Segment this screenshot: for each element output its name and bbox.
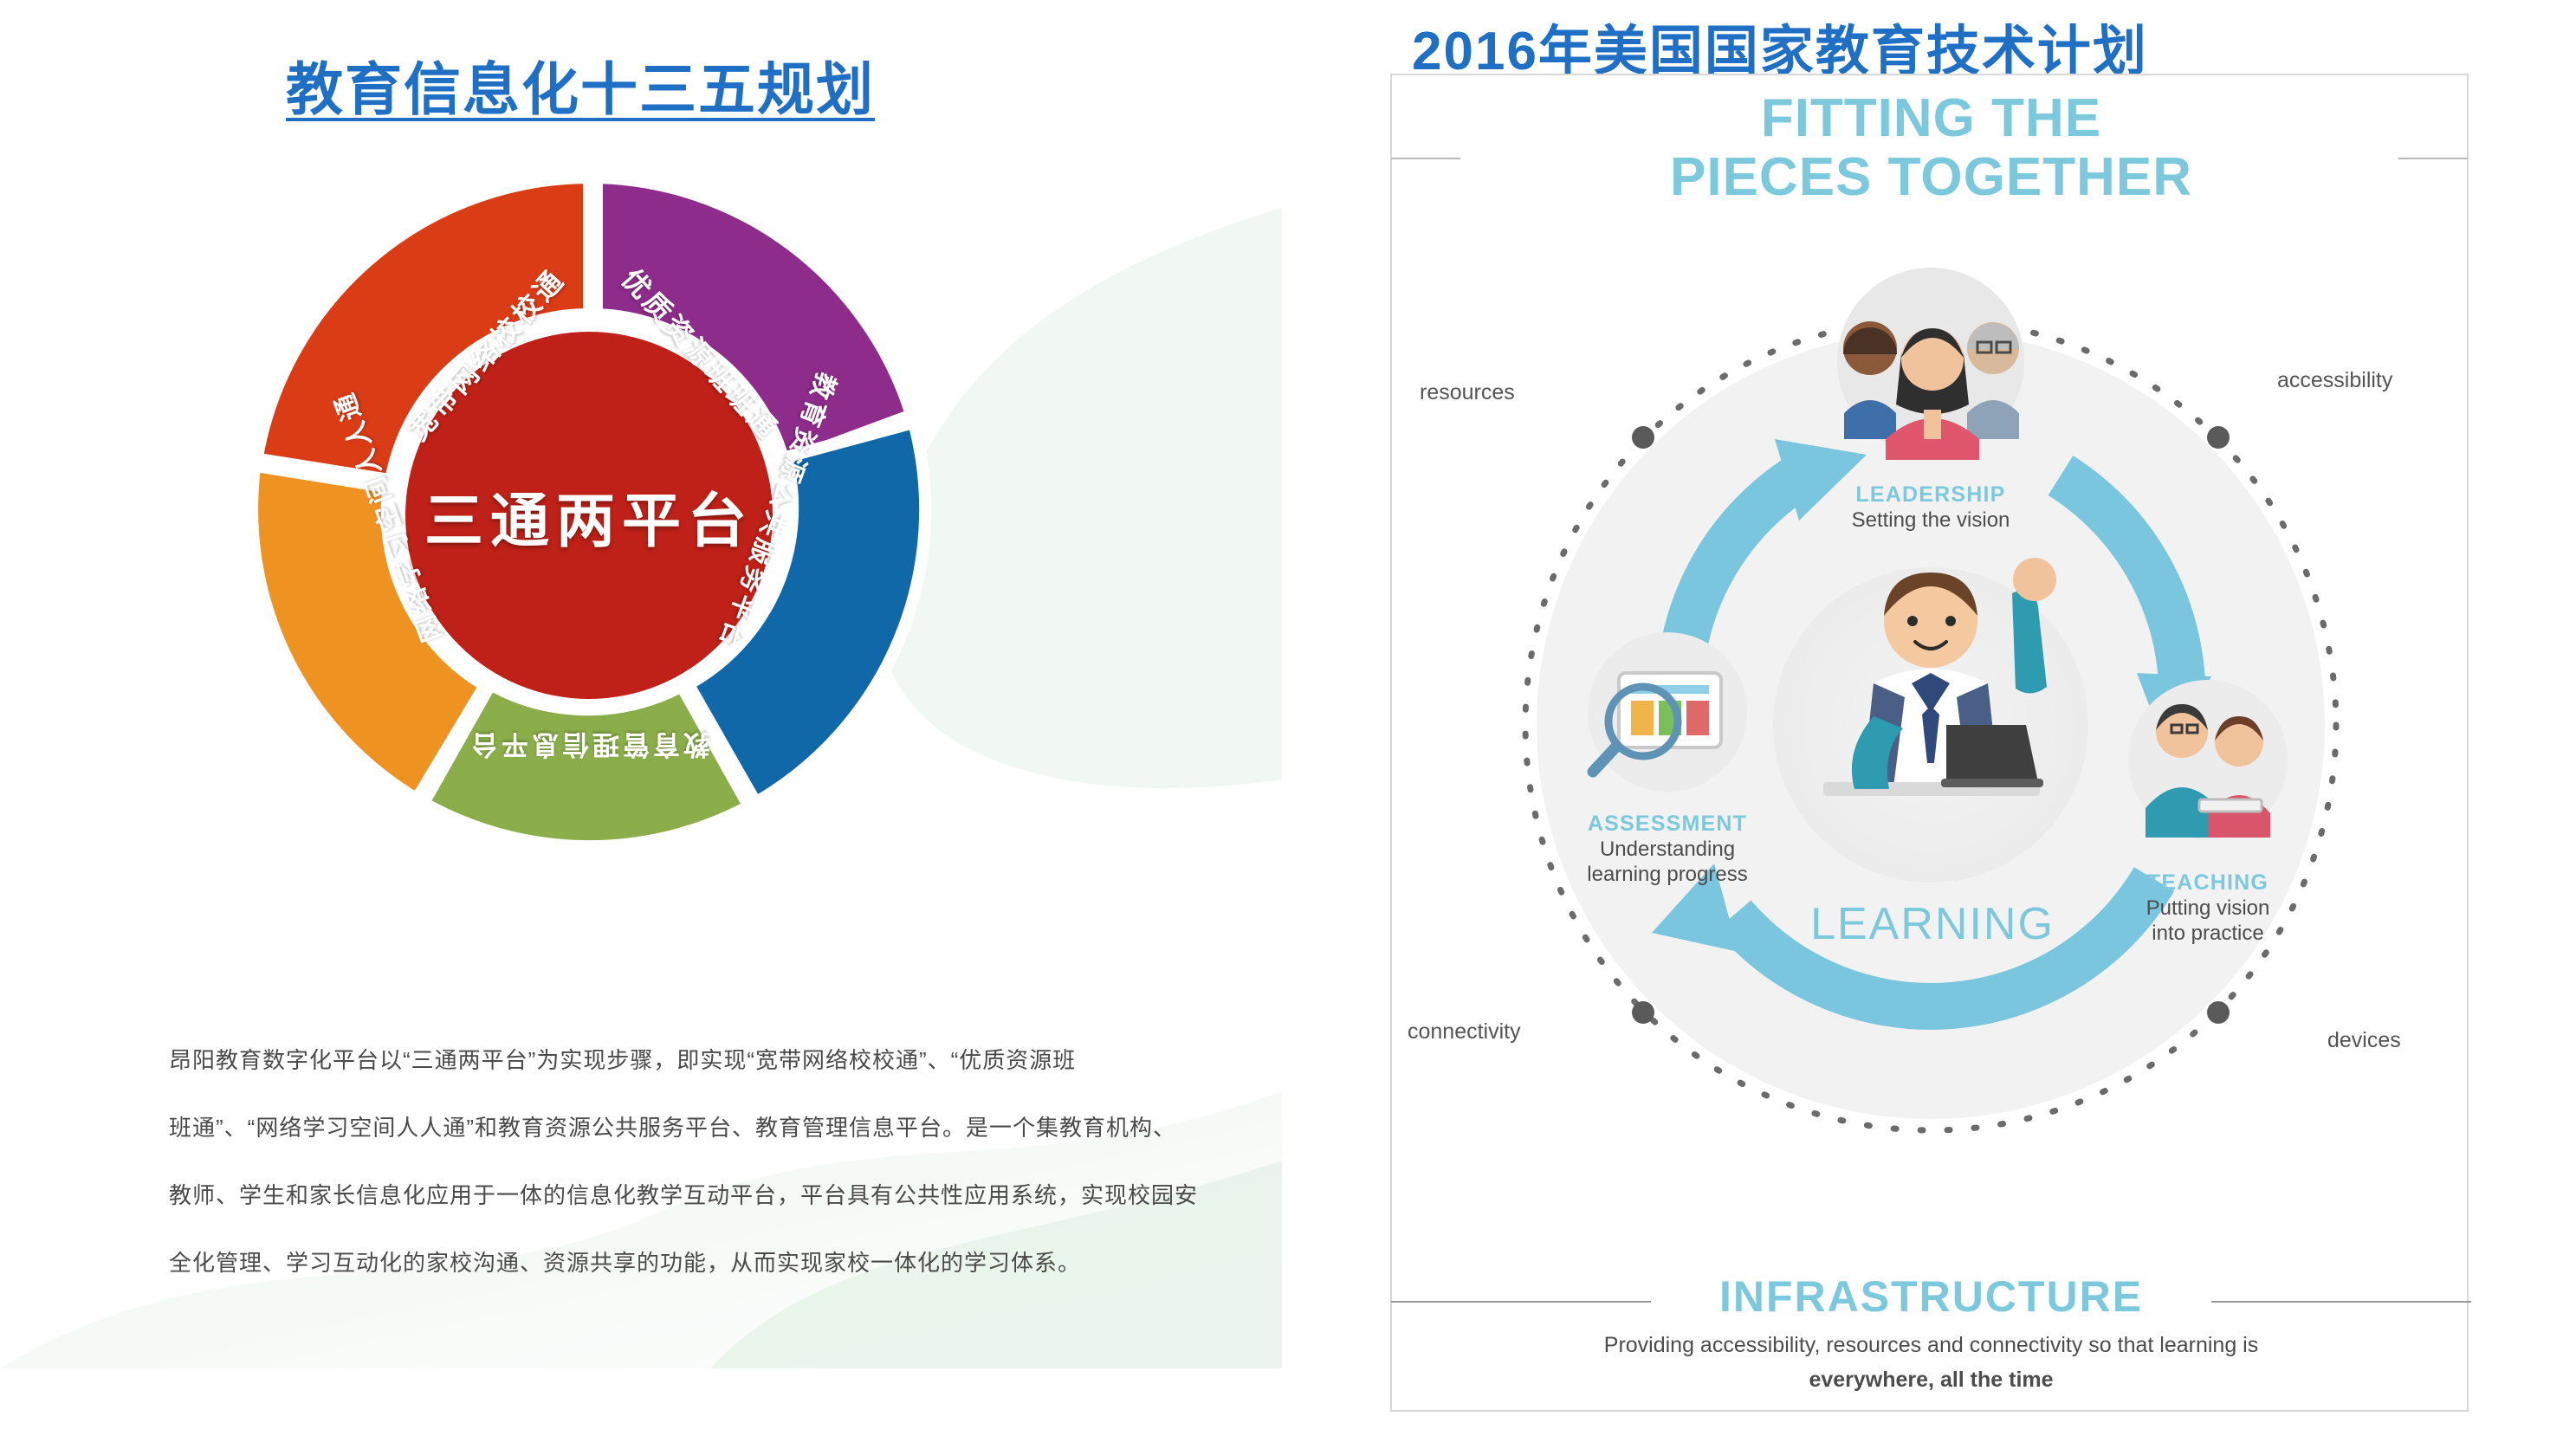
slide-root: 教育信息化十三五规划 宽带网络校校通 — [0, 0, 2576, 1449]
right-panel: 2016年美国国家教育技术计划 FITTING THE PIECES TOGET… — [1282, 0, 2576, 1449]
assessment-title: ASSESSMENT — [1511, 812, 1823, 837]
assessment-subtitle-line2: learning progress — [1511, 862, 1823, 887]
donut-chart: 宽带网络校校通 优质资源班班通 教育资源公共服务平台 教育管理信息平台 网络学习… — [234, 160, 944, 870]
poster-heading-line1: FITTING THE — [1392, 89, 2470, 148]
node-label-assessment: ASSESSMENT Understanding learning progre… — [1511, 812, 1823, 887]
cycle-diagram: LEADERSHIP Setting the vision ASSESSMENT… — [1392, 153, 2470, 1314]
outer-word-connectivity: connectivity — [1408, 1019, 1521, 1045]
infrastructure-rule-left — [1391, 1301, 1651, 1303]
nett-poster: FITTING THE PIECES TOGETHER — [1390, 74, 2469, 1412]
paragraph-line-3: 教师、学生和家长信息化应用于一体的信息化教学互动平台，平台具有公共性应用系统，实… — [169, 1161, 1265, 1229]
outer-word-accessibility: accessibility — [2277, 368, 2392, 393]
node-label-leadership: LEADERSHIP Setting the vision — [1762, 482, 2100, 533]
leadership-title: LEADERSHIP — [1762, 482, 2100, 508]
leadership-subtitle: Setting the vision — [1762, 508, 2100, 533]
left-panel: 教育信息化十三五规划 宽带网络校校通 — [0, 0, 1282, 1449]
paragraph-line-1: 昂阳教育数字化平台以“三通两平台”为实现步骤，即实现“宽带网络校校通”、“优质资… — [169, 1026, 1265, 1094]
outer-word-resources: resources — [1420, 380, 1515, 405]
infrastructure-subtitle-line1: Providing accessibility, resources and c… — [1392, 1330, 2470, 1360]
paragraph-line-4: 全化管理、学习互动化的家校沟通、资源共享的功能，从而实现家校一体化的学习体系。 — [169, 1229, 1265, 1297]
teaching-title: TEACHING — [2061, 870, 2355, 896]
outer-word-devices: devices — [2327, 1028, 2401, 1053]
donut-segment-label-management-platform: 教育管理信息平台 — [450, 728, 728, 767]
infrastructure-block: INFRASTRUCTURE Providing accessibility, … — [1392, 1271, 2470, 1394]
infrastructure-title: INFRASTRUCTURE — [1697, 1271, 2165, 1322]
center-label-learning: LEARNING — [1733, 898, 2132, 950]
infrastructure-rule-right — [2211, 1301, 2471, 1303]
infrastructure-title-row: INFRASTRUCTURE — [1392, 1271, 2470, 1325]
paragraph-line-2: 班通”、“网络学习空间人人通”和教育资源公共服务平台、教育管理信息平台。是一个集… — [169, 1094, 1265, 1161]
left-description-paragraph: 昂阳教育数字化平台以“三通两平台”为实现步骤，即实现“宽带网络校校通”、“优质资… — [169, 1026, 1265, 1297]
infrastructure-subtitle-line2: everywhere, all the time — [1392, 1365, 2470, 1394]
page-title-left: 教育信息化十三五规划 — [286, 43, 979, 126]
assessment-subtitle-line1: Understanding — [1511, 837, 1823, 862]
infrastructure-subtitle-line2-bold: everywhere, all the time — [1809, 1368, 2053, 1392]
